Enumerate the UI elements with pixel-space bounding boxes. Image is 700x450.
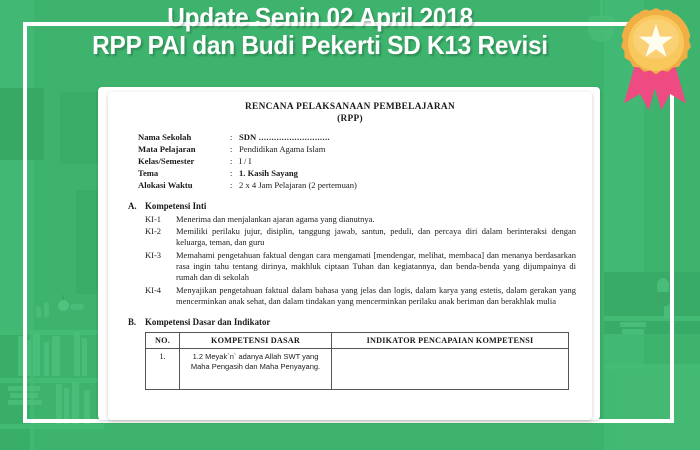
section-letter: B. xyxy=(128,317,145,327)
meta-label: Mata Pelajaran xyxy=(138,143,230,155)
ki-key: KI-4 xyxy=(145,285,176,308)
meta-colon: : xyxy=(230,155,239,167)
document-meta-list: Nama Sekolah : SDN .....................… xyxy=(138,131,576,192)
meta-label: Nama Sekolah xyxy=(138,131,230,143)
banner-title-line-1: Update Senin 02 April 2018 xyxy=(19,4,621,32)
section-heading-text: Kompetensi Inti xyxy=(145,201,206,211)
bookshelf-shelf-icon xyxy=(0,424,104,429)
section-kompetensi-inti: A. Kompetensi Inti KI-1 Menerima dan men… xyxy=(124,201,576,308)
meta-colon: : xyxy=(230,131,239,143)
award-medal-badge-icon xyxy=(611,2,699,106)
column-header-no: NO. xyxy=(146,332,180,348)
meta-value: 2 x 4 Jam Pelajaran (2 pertemuan) xyxy=(239,179,576,191)
ki-text: Menyajikan pengetahuan faktual dalam bah… xyxy=(176,285,576,308)
meta-colon: : xyxy=(230,167,239,179)
cell-indikator xyxy=(332,348,569,389)
meta-value: 1. Kasih Sayang xyxy=(239,167,576,179)
meta-row: Alokasi Waktu : 2 x 4 Jam Pelajaran (2 p… xyxy=(138,179,576,191)
table-row: 1. 1.2 Meyak`n` adanya Allah SWT yang Ma… xyxy=(146,348,569,389)
meta-row: Tema : 1. Kasih Sayang xyxy=(138,167,576,179)
kompetensi-dasar-table-wrap: NO. KOMPETENSI DASAR INDIKATOR PENCAPAIA… xyxy=(145,332,569,390)
cell-no: 1. xyxy=(146,348,180,389)
meta-colon: : xyxy=(230,143,239,155)
ki-key: KI-2 xyxy=(145,226,176,249)
table-header-row: NO. KOMPETENSI DASAR INDIKATOR PENCAPAIA… xyxy=(146,332,569,348)
kompetensi-inti-list: KI-1 Menerima dan menjalankan ajaran aga… xyxy=(145,214,576,308)
meta-row: Mata Pelajaran : Pendidikan Agama Islam xyxy=(138,143,576,155)
ki-text: Menerima dan menjalankan ajaran agama ya… xyxy=(176,214,576,225)
section-heading: B. Kompetensi Dasar dan Indikator xyxy=(128,317,576,327)
list-item: KI-1 Menerima dan menjalankan ajaran aga… xyxy=(145,214,576,225)
ki-text: Memiliki perilaku jujur, disiplin, tangg… xyxy=(176,226,576,249)
section-letter: A. xyxy=(128,201,145,211)
document-preview: RENCANA PELAKSANAAN PEMBELAJARAN (RPP) N… xyxy=(108,92,592,420)
cell-kompetensi-dasar: 1.2 Meyak`n` adanya Allah SWT yang Maha … xyxy=(180,348,332,389)
ki-key: KI-3 xyxy=(145,250,176,284)
banner-title-line-2: RPP PAI dan Budi Pekerti SD K13 Revisi xyxy=(19,32,621,60)
meta-colon: : xyxy=(230,179,239,191)
ki-key: KI-1 xyxy=(145,214,176,225)
banner-image: Update Senin 02 April 2018 RPP PAI dan B… xyxy=(0,0,700,450)
meta-value-dots: ............................ xyxy=(256,132,330,142)
meta-row: Kelas/Semester : I / I xyxy=(138,155,576,167)
column-header-kd: KOMPETENSI DASAR xyxy=(180,332,332,348)
document-title: RENCANA PELAKSANAAN PEMBELAJARAN xyxy=(124,101,576,114)
ki-text: Memahami pengetahuan faktual dengan cara… xyxy=(176,250,576,284)
meta-row: Nama Sekolah : SDN .....................… xyxy=(138,131,576,143)
meta-value: SDN ............................ xyxy=(239,131,576,143)
meta-value-text: SDN xyxy=(239,132,256,142)
meta-label: Alokasi Waktu xyxy=(138,179,230,191)
banner-header: Update Senin 02 April 2018 RPP PAI dan B… xyxy=(0,0,700,84)
section-heading-text: Kompetensi Dasar dan Indikator xyxy=(145,317,270,327)
list-item: KI-4 Menyajikan pengetahuan faktual dala… xyxy=(145,285,576,308)
column-header-ind: INDIKATOR PENCAPAIAN KOMPETENSI xyxy=(332,332,569,348)
section-kompetensi-dasar: B. Kompetensi Dasar dan Indikator NO. KO… xyxy=(124,317,576,390)
list-item: KI-2 Memiliki perilaku jujur, disiplin, … xyxy=(145,226,576,249)
banner-title-block: Update Senin 02 April 2018 RPP PAI dan B… xyxy=(0,4,640,60)
kompetensi-dasar-table: NO. KOMPETENSI DASAR INDIKATOR PENCAPAIA… xyxy=(145,332,569,390)
meta-label: Kelas/Semester xyxy=(138,155,230,167)
meta-label: Tema xyxy=(138,167,230,179)
document-subtitle: (RPP) xyxy=(124,114,576,124)
meta-value: I / I xyxy=(239,155,576,167)
list-item: KI-3 Memahami pengetahuan faktual dengan… xyxy=(145,250,576,284)
meta-value: Pendidikan Agama Islam xyxy=(239,143,576,155)
section-heading: A. Kompetensi Inti xyxy=(128,201,576,211)
